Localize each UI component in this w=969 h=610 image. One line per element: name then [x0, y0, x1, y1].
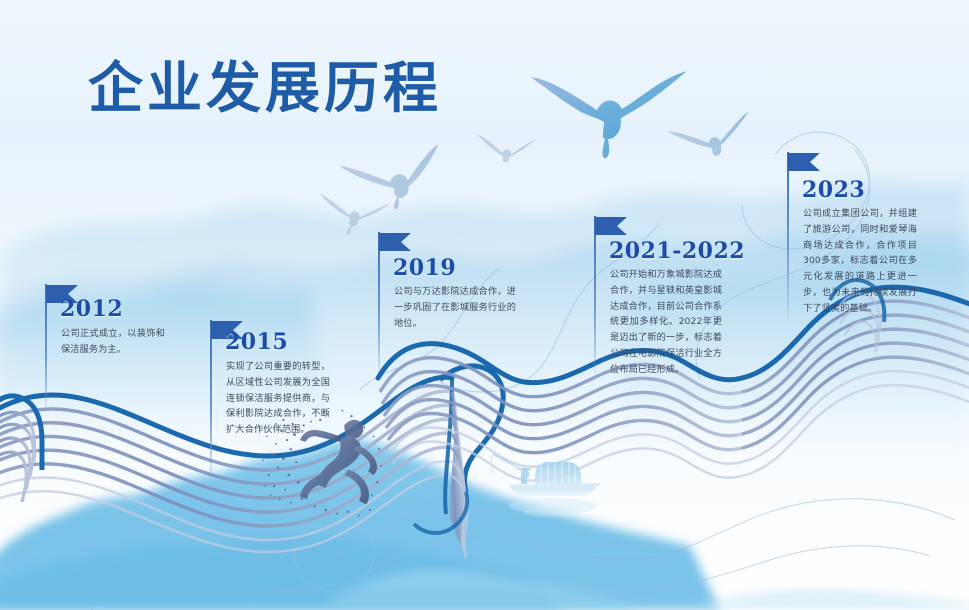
milestone-year: 2023 — [802, 177, 865, 203]
milestone-text: 公司成立集团公司，并组建了旅游公司，同时和爱琴海商场达成合作，合作项目300多家… — [803, 206, 917, 317]
seagull-icon — [531, 71, 687, 158]
seagull-icon — [339, 144, 438, 209]
milestone-year: 2021-2022 — [609, 238, 745, 264]
seagull-icon — [667, 111, 758, 166]
milestone-text: 公司开始和万象城影院达成合作，并与星轶和英皇影城达成合作，目前公司合作系统更加多… — [610, 267, 722, 378]
milestone-text: 公司与万达影院达成合作，进一步巩固了在影城服务行业的地位。 — [394, 284, 516, 331]
seagull-icon — [475, 133, 536, 165]
milestone-text: 公司正式成立，以装饰和保洁服务为主。 — [61, 326, 165, 358]
poster-canvas: 企业发展历程 2012 公司正式成立，以装饰和保洁服务为主。 2015 实现了公… — [0, 0, 969, 610]
milestone-year: 2012 — [60, 296, 123, 322]
milestone-text: 实现了公司重要的转型，从区域性公司发展为全国连锁保洁服务提供商，与保利影院达成合… — [226, 359, 330, 438]
milestone-year: 2015 — [225, 329, 288, 355]
page-title: 企业发展历程 — [88, 58, 442, 120]
flag-icon — [788, 152, 824, 180]
milestone-year: 2019 — [393, 255, 456, 281]
